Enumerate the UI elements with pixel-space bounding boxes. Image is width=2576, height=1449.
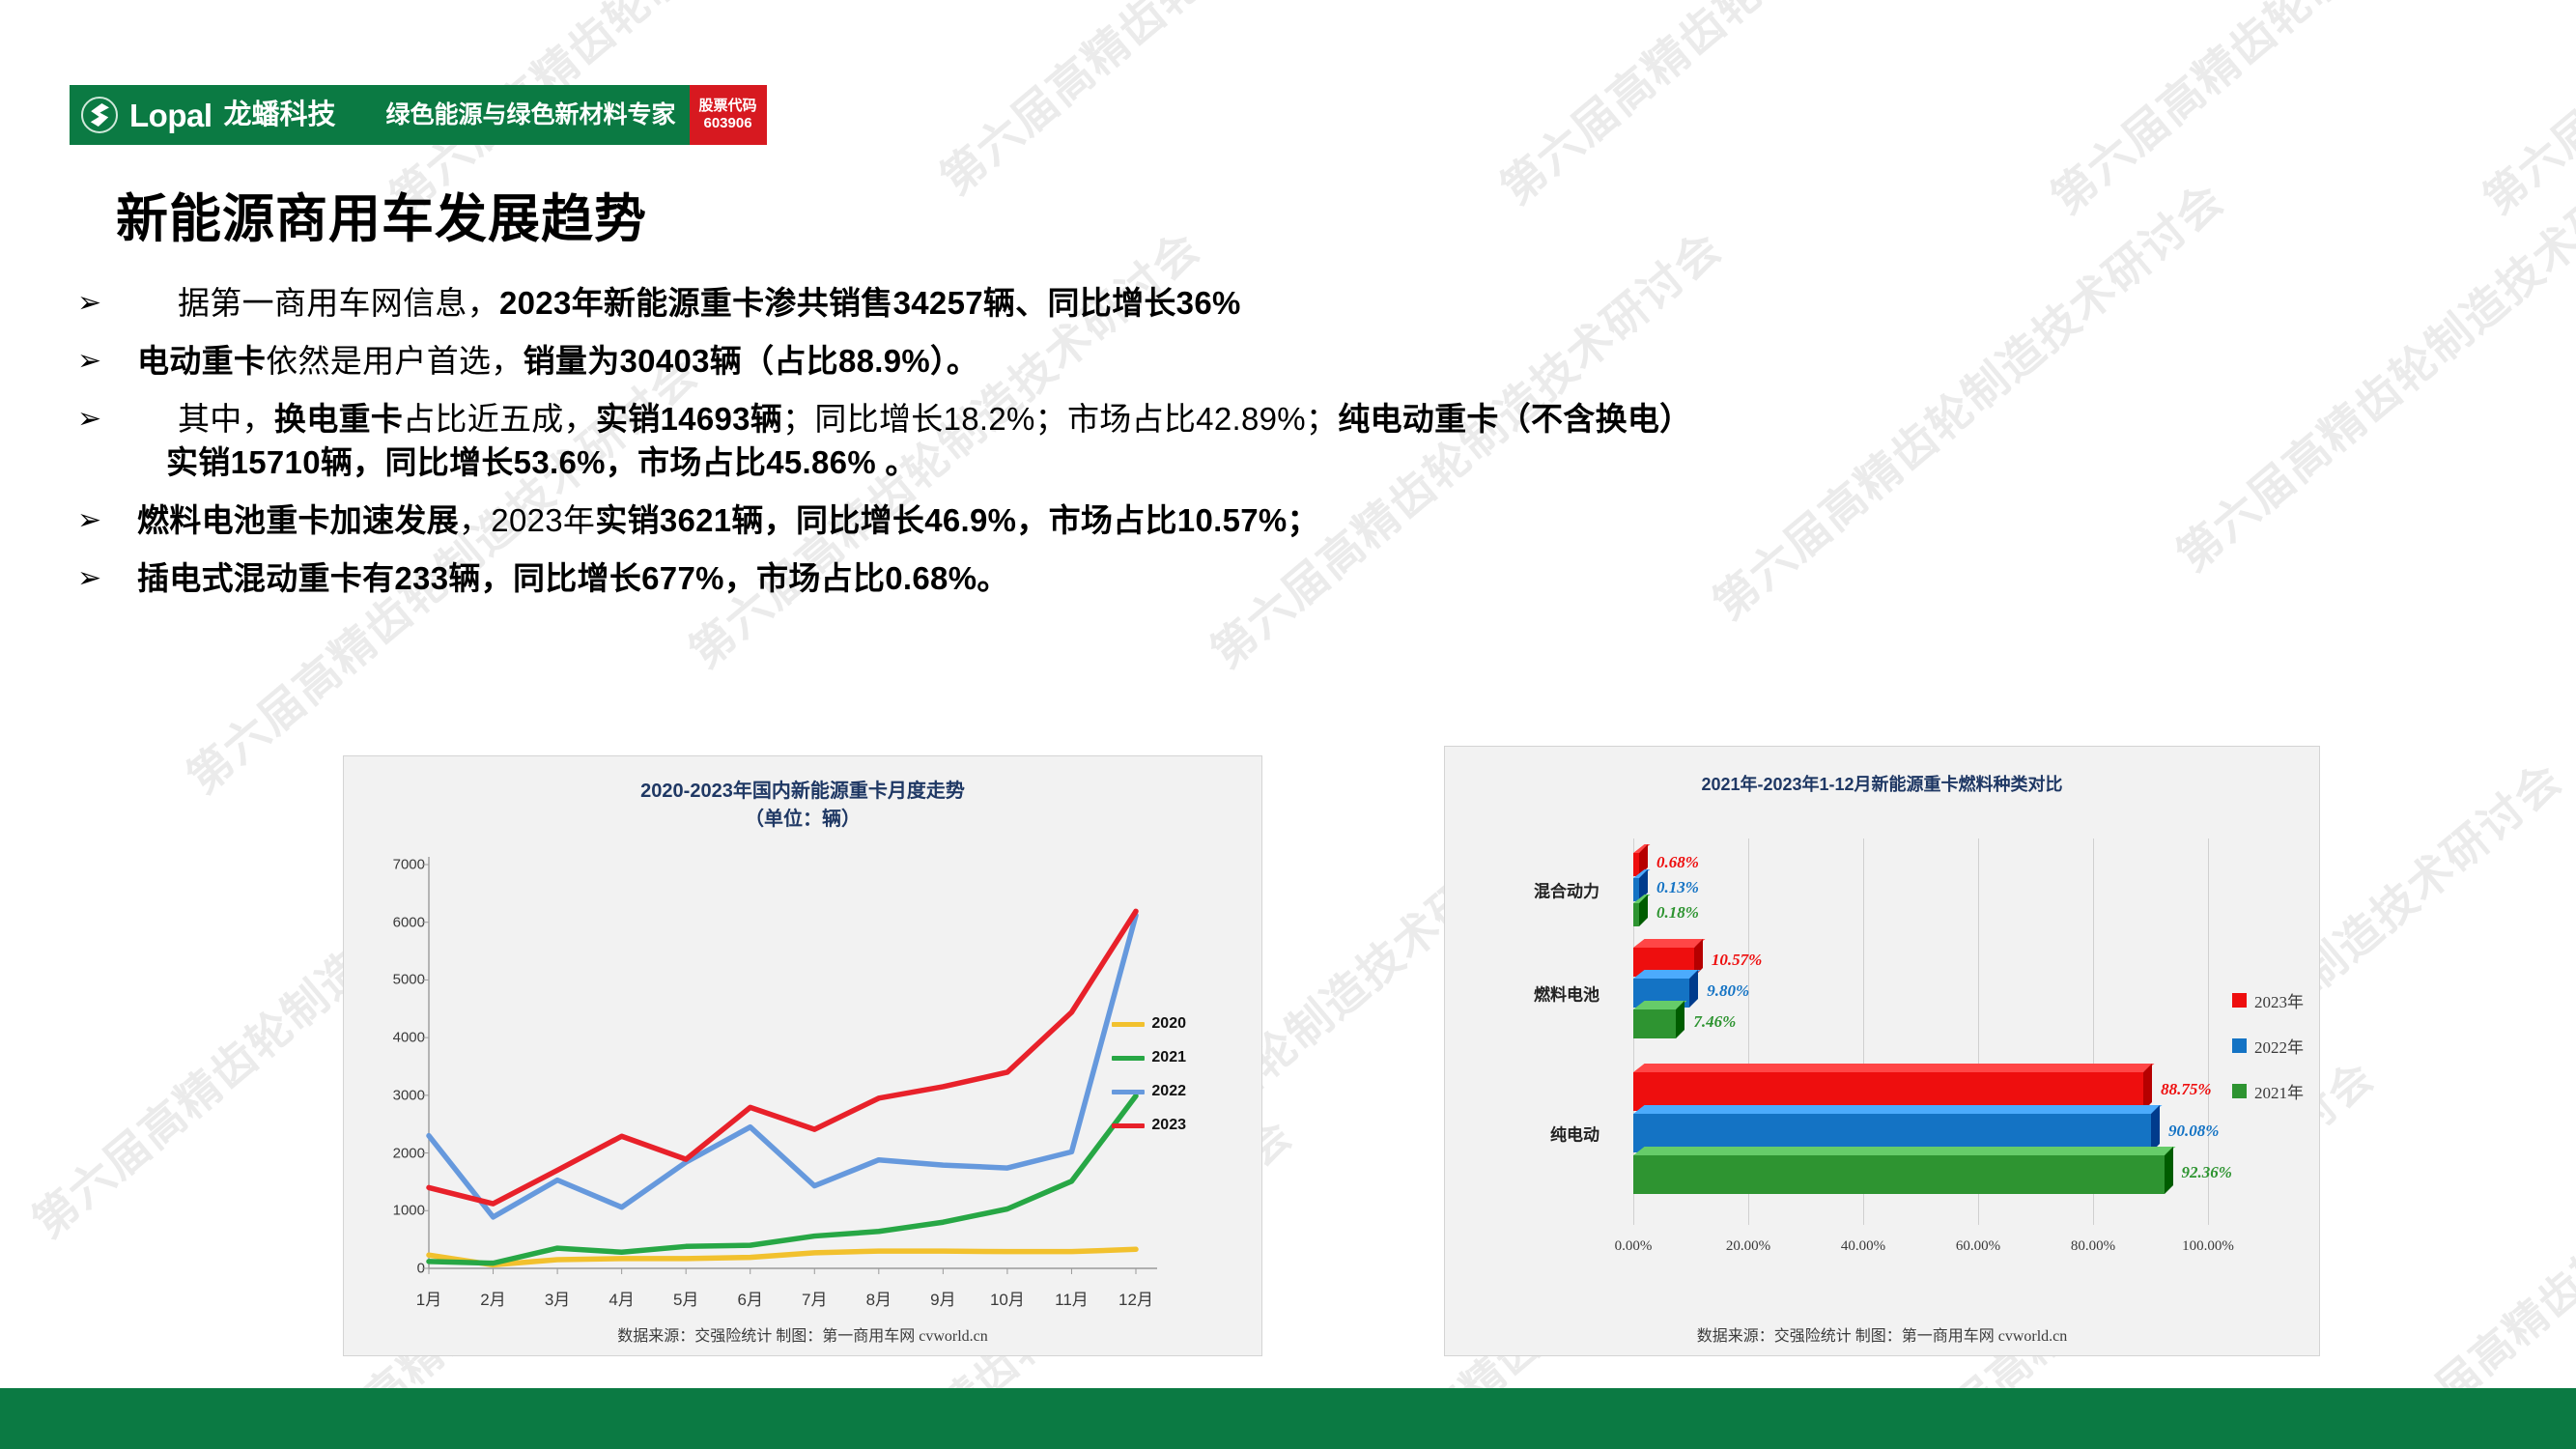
x-axis-tick-label: 0.00% xyxy=(1615,1238,1653,1255)
bar-value-label: 88.75% xyxy=(2161,1080,2211,1099)
legend-swatch-icon xyxy=(2232,1084,2247,1098)
bar-face xyxy=(1633,1009,1676,1038)
fuel-type-legend: 2023年2022年2021年 xyxy=(2232,988,2304,1124)
bullet-segment: 实销3621辆，同比增长46.9%，市场占比10.57%； xyxy=(595,502,1319,538)
bar-category-label: 混合动力 xyxy=(1484,878,1599,902)
bullet-marker-icon: ➢ xyxy=(77,557,122,598)
company-logo: Lopal 龙蟠科技 绿色能源与绿色新材料专家 股票代码 603906 xyxy=(70,85,767,145)
bar-side-face xyxy=(2143,1064,2152,1111)
bar-side-face xyxy=(1676,1001,1684,1038)
bullet-segment: 依然是用户首选， xyxy=(266,343,523,379)
legend-swatch-icon xyxy=(2232,1038,2247,1053)
legend-label: 2022年 xyxy=(2254,1034,2304,1058)
bar-value-label: 0.18% xyxy=(1656,903,1699,923)
legend-swatch-icon xyxy=(1112,1123,1145,1128)
bullet-segment: 电动重卡 xyxy=(137,343,266,379)
monthly-trend-footer: 数据来源：交强险统计 制图：第一商用车网 cvworld.cn xyxy=(344,1322,1261,1346)
x-axis-tick-label: 20.00% xyxy=(1726,1238,1770,1255)
bullet-item: ➢其中，换电重卡占比近五成，实销14693辆；同比增长18.2%；市场占比42.… xyxy=(77,398,2511,483)
bullet-marker-icon: ➢ xyxy=(77,282,122,323)
bullet-item: ➢插电式混动重卡有233辆，同比增长677%，市场占比0.68%。 xyxy=(77,557,2511,600)
bullet-segment: 2023年新能源重卡渗共销售34257辆、同比增长36% xyxy=(499,285,1241,321)
legend-swatch-icon xyxy=(1112,1090,1145,1094)
bar-top-face xyxy=(1633,1147,2175,1155)
fuel-type-plot-area: 0.00%20.00%40.00%60.00%80.00%100.00%混合动力… xyxy=(1445,747,2319,1355)
legend-label: 2020 xyxy=(1151,1015,1186,1033)
bullet-item: ➢燃料电池重卡加速发展，2023年实销3621辆，同比增长46.9%，市场占比1… xyxy=(77,499,2511,542)
legend-label: 2021年 xyxy=(2254,1079,2304,1103)
bar-top-face xyxy=(1633,1105,2162,1114)
lopal-emblem-icon xyxy=(81,97,118,133)
bar-value-label: 0.68% xyxy=(1656,853,1699,872)
bar-value-label: 92.36% xyxy=(2182,1163,2232,1182)
legend-item[interactable]: 2020 xyxy=(1112,1015,1186,1033)
bullet-segment: 销量为30403辆（占比88.9%）。 xyxy=(524,343,979,379)
bullet-text: 燃料电池重卡加速发展，2023年实销3621辆，同比增长46.9%，市场占比10… xyxy=(122,499,1319,542)
bullet-segment: ，2023年 xyxy=(459,502,595,538)
x-axis-tick-label: 40.00% xyxy=(1841,1238,1885,1255)
logo-green-panel: Lopal 龙蟠科技 绿色能源与绿色新材料专家 xyxy=(70,85,690,145)
legend-swatch-icon xyxy=(1112,1056,1145,1061)
bullet-item: ➢电动重卡依然是用户首选，销量为30403辆（占比88.9%）。 xyxy=(77,340,2511,383)
fuel-type-chart: 2021年-2023年1-12月新能源重卡燃料种类对比 0.00%20.00%4… xyxy=(1444,746,2320,1356)
legend-swatch-icon xyxy=(2232,993,2247,1008)
x-axis-tick-label: 60.00% xyxy=(1956,1238,2000,1255)
logo-tagline: 绿色能源与绿色新材料专家 xyxy=(386,103,676,128)
bar-value-label: 0.13% xyxy=(1656,878,1699,897)
bullet-text: 插电式混动重卡有233辆，同比增长677%，市场占比0.68%。 xyxy=(122,557,1009,600)
bar-segment[interactable] xyxy=(1633,1009,1676,1038)
bottom-green-band xyxy=(0,1388,2576,1449)
bullet-segment: 纯电动重卡（不含换电） xyxy=(1338,401,1691,437)
logo-brand-cn: 龙蟠科技 xyxy=(224,101,336,129)
fuel-type-footer: 数据来源：交强险统计 制图：第一商用车网 cvworld.cn xyxy=(1445,1322,2319,1346)
legend-label: 2023年 xyxy=(2254,988,2304,1012)
bar-side-face xyxy=(2151,1105,2160,1152)
legend-item[interactable]: 2023 xyxy=(1112,1117,1186,1134)
legend-label: 2022 xyxy=(1151,1083,1186,1100)
bar-side-face xyxy=(1689,970,1698,1008)
bullet-segment: ；同比增长18.2%；市场占比42.89%； xyxy=(782,401,1338,437)
page-title: 新能源商用车发展趋势 xyxy=(116,176,647,252)
stock-code-value: 603906 xyxy=(704,115,752,132)
bullet-item: ➢据第一商用车网信息，2023年新能源重卡渗共销售34257辆、同比增长36% xyxy=(77,282,2511,325)
bullet-segment: 燃料电池重卡加速发展 xyxy=(137,502,459,538)
bullet-text: 电动重卡依然是用户首选，销量为30403辆（占比88.9%）。 xyxy=(122,340,978,383)
bullet-segment: 实销15710辆，同比增长53.6%，市场占比45.86% 。 xyxy=(166,444,918,480)
bar-segment[interactable] xyxy=(1633,903,1639,926)
bar-category-label: 纯电动 xyxy=(1484,1122,1599,1146)
bullet-text: 据第一商用车网信息，2023年新能源重卡渗共销售34257辆、同比增长36% xyxy=(122,282,1241,325)
watermark-text: 第六届高精齿轮制造技术研讨会 xyxy=(924,0,1462,207)
bullet-segment: 换电重卡 xyxy=(274,401,403,437)
watermark-text: 第六届高精齿轮制造技术研讨会 xyxy=(2468,0,2576,225)
watermark-text: 第六届高精齿轮制造技术研讨会 xyxy=(2352,1025,2576,1449)
watermark-text: 第六届高精齿轮制造技术研讨会 xyxy=(1485,0,2023,216)
logo-brand-en: Lopal xyxy=(129,99,212,131)
monthly-trend-legend: 2020202120222023 xyxy=(1112,1015,1186,1151)
monthly-trend-plot-area: 010002000300040005000600070001月2月3月4月5月6… xyxy=(344,756,1261,1355)
bar-value-label: 9.80% xyxy=(1707,981,1749,1001)
bullet-marker-icon: ➢ xyxy=(77,398,122,439)
bullet-continuation: 实销15710辆，同比增长53.6%，市场占比45.86% 。 xyxy=(122,441,1692,484)
bullet-segment: 其中， xyxy=(178,401,274,437)
bullet-segment: 插电式混动重卡有233辆，同比增长677%，市场占比0.68%。 xyxy=(137,560,1009,596)
bullet-text: 其中，换电重卡占比近五成，实销14693辆；同比增长18.2%；市场占比42.8… xyxy=(122,398,1692,483)
legend-item[interactable]: 2023年 xyxy=(2232,988,2304,1012)
stock-code-badge: 股票代码 603906 xyxy=(690,85,767,145)
legend-item[interactable]: 2021年 xyxy=(2232,1079,2304,1103)
legend-label: 2021 xyxy=(1151,1049,1186,1066)
bullet-marker-icon: ➢ xyxy=(77,499,122,540)
legend-label: 2023 xyxy=(1151,1117,1186,1134)
bullet-segment: 据第一商用车网信息， xyxy=(178,285,499,321)
bullet-segment: 实销14693辆 xyxy=(596,401,782,437)
bar-side-face xyxy=(2165,1147,2173,1194)
monthly-trend-chart: 2020-2023年国内新能源重卡月度走势 （单位：辆） 01000200030… xyxy=(343,755,1262,1356)
bar-category-label: 燃料电池 xyxy=(1484,981,1599,1006)
x-axis-tick-label: 100.00% xyxy=(2182,1238,2234,1255)
bar-face xyxy=(1633,1155,2165,1194)
legend-item[interactable]: 2022 xyxy=(1112,1083,1186,1100)
stock-code-label: 股票代码 xyxy=(699,98,757,115)
bullet-marker-icon: ➢ xyxy=(77,340,122,381)
bar-top-face xyxy=(1633,1064,2155,1072)
x-axis-tick-label: 80.00% xyxy=(2071,1238,2115,1255)
bar-segment[interactable] xyxy=(1633,1155,2165,1194)
bullet-list: ➢据第一商用车网信息，2023年新能源重卡渗共销售34257辆、同比增长36%➢… xyxy=(77,282,2511,615)
bar-value-label: 7.46% xyxy=(1693,1012,1736,1032)
bar-value-label: 90.08% xyxy=(2168,1122,2219,1141)
legend-swatch-icon xyxy=(1112,1022,1145,1027)
watermark-text: 第六届高精齿轮制造技术研讨会 xyxy=(2035,0,2573,226)
legend-item[interactable]: 2022年 xyxy=(2232,1034,2304,1058)
legend-item[interactable]: 2021 xyxy=(1112,1049,1186,1066)
bullet-segment: 占比近五成， xyxy=(403,401,596,437)
bar-value-label: 10.57% xyxy=(1712,951,1762,970)
